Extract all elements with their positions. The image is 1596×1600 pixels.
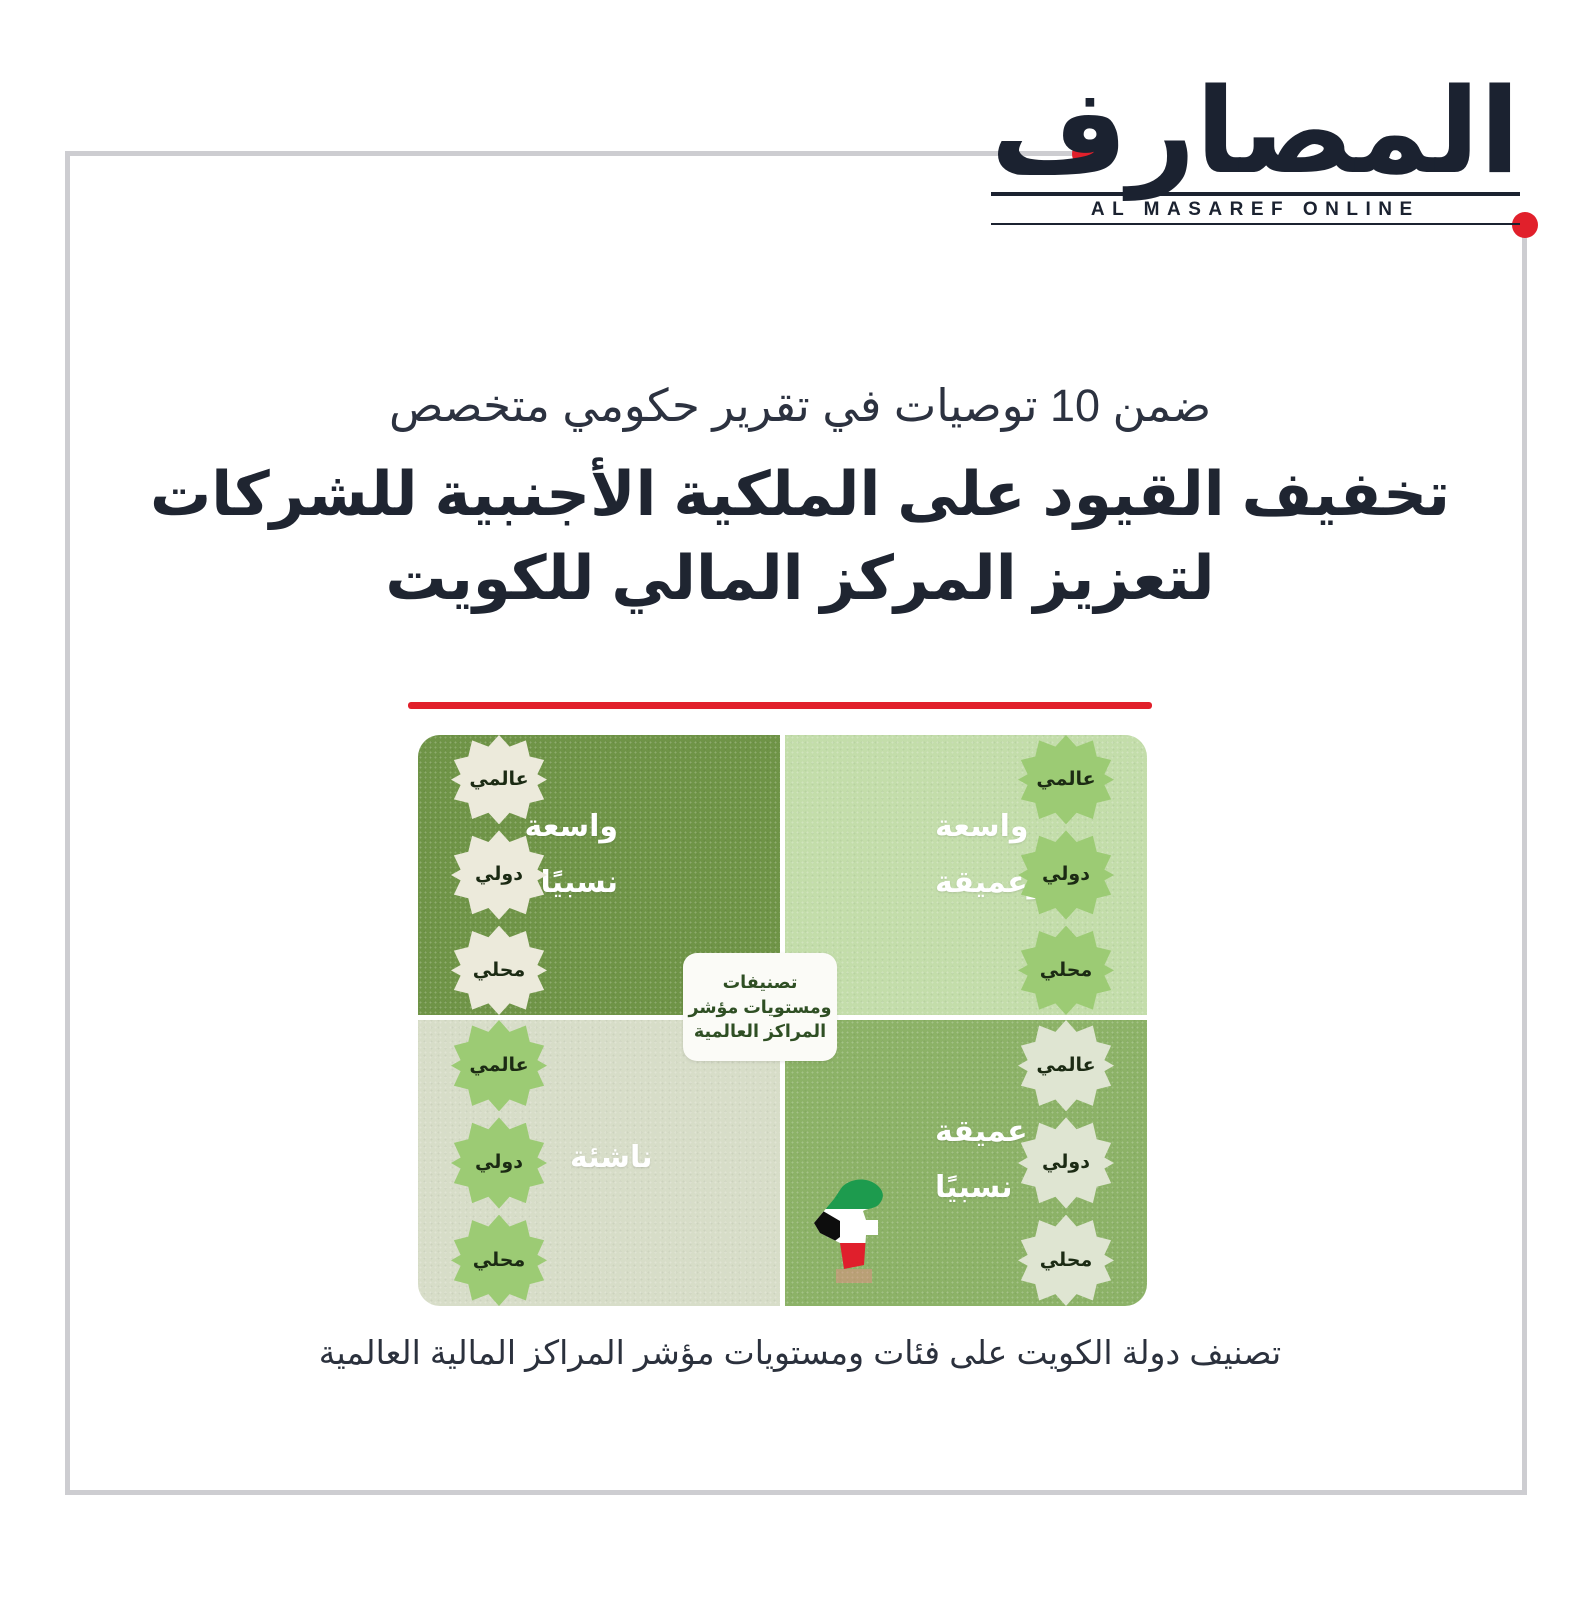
brand-logo[interactable]: المصارف AL MASAREF ONLINE	[991, 72, 1520, 225]
badge-column-bottom-right: عالمي دولي محلي	[991, 1020, 1141, 1306]
level-badge-label: عالمي	[469, 768, 528, 791]
level-badge-local[interactable]: محلي	[451, 1215, 547, 1306]
page-title: تخفيف القيود على الملكية الأجنبية للشركا…	[120, 452, 1480, 620]
badge-column-top-left: عالمي دولي محلي	[424, 735, 574, 1015]
level-badge-label: عالمي	[1036, 1054, 1095, 1077]
article-kicker: ضمن 10 توصيات في تقرير حكومي متخصص	[120, 378, 1480, 434]
level-badge-label: محلي	[1040, 959, 1092, 982]
level-badge-global[interactable]: عالمي	[1018, 1020, 1114, 1111]
level-badge-international[interactable]: دولي	[451, 1117, 547, 1208]
level-badge-global[interactable]: عالمي	[1018, 735, 1114, 824]
frame-bottom-line	[65, 1490, 1527, 1495]
level-badge-global[interactable]: عالمي	[451, 1020, 547, 1111]
level-badge-international[interactable]: دولي	[451, 830, 547, 919]
infographic-caption: تصنيف دولة الكويت على فئات ومستويات مؤشر…	[120, 1333, 1480, 1372]
accent-divider	[408, 702, 1152, 709]
matrix-center-callout: تصنيفات ومستويات مؤشر المراكز العالمية	[683, 953, 837, 1061]
article-header: ضمن 10 توصيات في تقرير حكومي متخصص تخفيف…	[120, 378, 1480, 621]
level-badge-international[interactable]: دولي	[1018, 830, 1114, 919]
frame-left-line	[65, 151, 70, 1495]
level-badge-label: محلي	[473, 1249, 525, 1272]
brand-logo-wordmark: المصارف	[991, 72, 1520, 190]
frame-right-line	[1522, 230, 1527, 1495]
badge-column-top-right: عالمي دولي محلي	[991, 735, 1141, 1015]
matrix-center-label: تصنيفات ومستويات مؤشر المراكز العالمية	[688, 970, 831, 1045]
badge-column-bottom-left: عالمي دولي محلي	[424, 1020, 574, 1306]
kuwait-map-flag-icon	[806, 1173, 898, 1285]
level-badge-international[interactable]: دولي	[1018, 1117, 1114, 1208]
level-badge-label: محلي	[1040, 1249, 1092, 1272]
level-badge-label: دولي	[1042, 863, 1090, 886]
infographic-card-page: المصارف AL MASAREF ONLINE ضمن 10 توصيات …	[0, 0, 1596, 1600]
level-badge-label: دولي	[1042, 1151, 1090, 1174]
brand-logo-rule-thin	[991, 223, 1520, 225]
level-badge-local[interactable]: محلي	[1018, 1215, 1114, 1306]
matrix-quadrant-top-right[interactable]: واسعة وعميقة عالمي دولي محلي	[785, 735, 1147, 1015]
infographic-matrix: واسعة نسبيًا عالمي دولي محلي واسعة وعميق…	[418, 735, 1147, 1306]
level-badge-label: دولي	[475, 1151, 523, 1174]
level-badge-local[interactable]: محلي	[451, 926, 547, 1015]
level-badge-label: عالمي	[1036, 768, 1095, 791]
level-badge-label: عالمي	[469, 1054, 528, 1077]
matrix-quadrant-bottom-left[interactable]: ناشئة عالمي دولي محلي	[418, 1020, 780, 1306]
level-badge-label: دولي	[475, 863, 523, 886]
frame-top-line	[65, 151, 1085, 156]
level-badge-label: محلي	[473, 959, 525, 982]
quadrant-label-bottom-left: ناشئة	[570, 1130, 652, 1186]
level-badge-global[interactable]: عالمي	[451, 735, 547, 824]
level-badge-local[interactable]: محلي	[1018, 926, 1114, 1015]
